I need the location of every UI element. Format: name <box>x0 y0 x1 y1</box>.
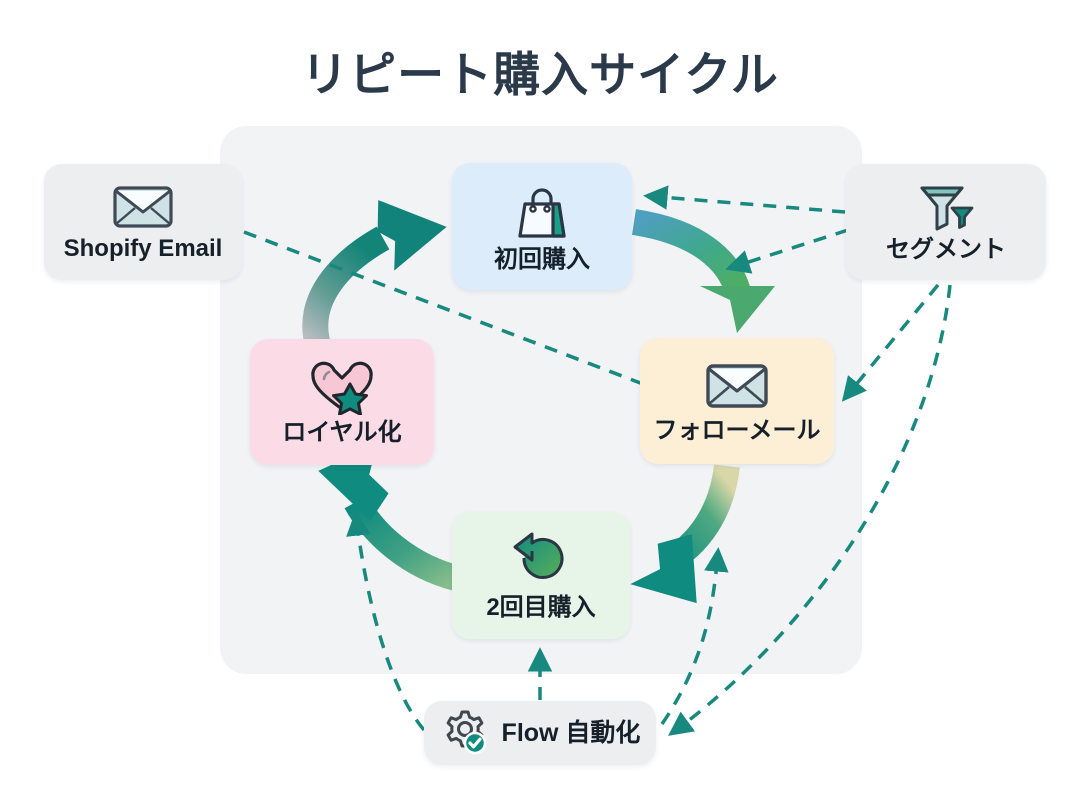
repeat-arrow-icon <box>508 532 574 590</box>
envelope-icon <box>704 359 770 413</box>
node-label: ロイヤル化 <box>282 421 401 445</box>
node-follow-up-email[interactable]: フォローメール <box>640 338 834 464</box>
node-second-purchase[interactable]: 2回目購入 <box>452 512 630 639</box>
edge-first-to-follow <box>634 222 775 333</box>
node-label: セグメント <box>886 238 1006 262</box>
envelope-icon <box>112 183 174 231</box>
funnel-icon <box>915 182 977 232</box>
node-first-purchase[interactable]: 初回購入 <box>452 163 632 290</box>
edge-segment-to-follow-upper <box>730 230 848 268</box>
node-label: Flow 自動化 <box>502 721 641 746</box>
node-label: 2回目購入 <box>486 596 595 620</box>
node-flow-automation[interactable]: Flow 自動化 <box>424 701 656 765</box>
edge-follow-to-second <box>629 466 727 603</box>
edge-segment-to-follow <box>845 285 938 398</box>
node-segment[interactable]: セグメント <box>846 164 1046 280</box>
node-label: フォローメール <box>653 419 820 443</box>
node-loyalty[interactable]: ロイヤル化 <box>250 339 434 465</box>
node-label: 初回購入 <box>494 248 590 272</box>
shopping-bag-icon <box>511 182 573 242</box>
edge-layer <box>0 0 1080 806</box>
edge-segment-to-first <box>648 196 845 212</box>
diagram-canvas: リピート購入サイクル <box>0 0 1080 806</box>
node-label: Shopify Email <box>64 237 223 261</box>
gear-check-icon <box>440 709 490 757</box>
node-shopify-email[interactable]: Shopify Email <box>44 164 242 280</box>
heart-star-icon <box>307 359 377 415</box>
